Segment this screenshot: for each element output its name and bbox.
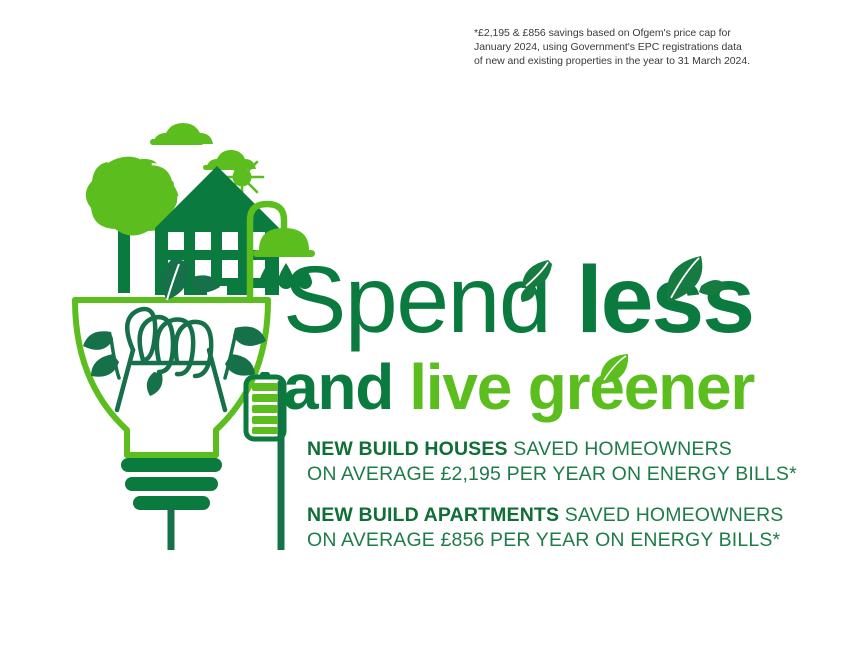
copy-line-apartments-1: NEW BUILD APARTMENTS SAVED HOMEOWNERS	[307, 503, 827, 528]
copy-line-houses-2: ON AVERAGE £2,195 PER YEAR ON ENERGY BIL…	[307, 462, 827, 487]
poster-canvas: *£2,195 & £856 savings based on Ofgem's …	[0, 0, 865, 665]
copy-block-group: NEW BUILD HOUSES SAVED HOMEOWNERS ON AVE…	[307, 437, 827, 552]
cloud-middle-icon	[150, 123, 213, 145]
copy-rest-apartments: SAVED HOMEOWNERS	[559, 504, 783, 526]
copy-block-houses: NEW BUILD HOUSES SAVED HOMEOWNERS ON AVE…	[307, 437, 827, 486]
headline-word-and: and	[283, 351, 393, 423]
bulb-base	[121, 458, 222, 510]
headline-word-spend: Spend	[283, 247, 550, 353]
filament-vine	[117, 309, 225, 410]
headline-line-2: andlive greener	[283, 356, 843, 420]
headline: Spendless andlive greener	[283, 258, 843, 420]
copy-emphasis-apartments: NEW BUILD APARTMENTS	[307, 504, 559, 526]
copy-rest-houses: SAVED HOMEOWNERS	[508, 438, 732, 460]
headline-line-1: Spendless	[283, 258, 843, 346]
copy-line-houses-1: NEW BUILD HOUSES SAVED HOMEOWNERS	[307, 437, 827, 462]
leaf-small-icon	[147, 372, 163, 396]
headline-word-live-greener: live greener	[409, 351, 754, 423]
sun-disc	[233, 168, 252, 187]
copy-block-apartments: NEW BUILD APARTMENTS SAVED HOMEOWNERS ON…	[307, 503, 827, 552]
footnote-text: *£2,195 & £856 savings based on Ofgem's …	[474, 26, 804, 69]
copy-emphasis-houses: NEW BUILD HOUSES	[307, 438, 508, 460]
copy-line-apartments-2: ON AVERAGE £856 PER YEAR ON ENERGY BILLS…	[307, 528, 827, 553]
cloud-right-icon	[203, 150, 256, 170]
headline-word-less: less	[576, 247, 753, 353]
